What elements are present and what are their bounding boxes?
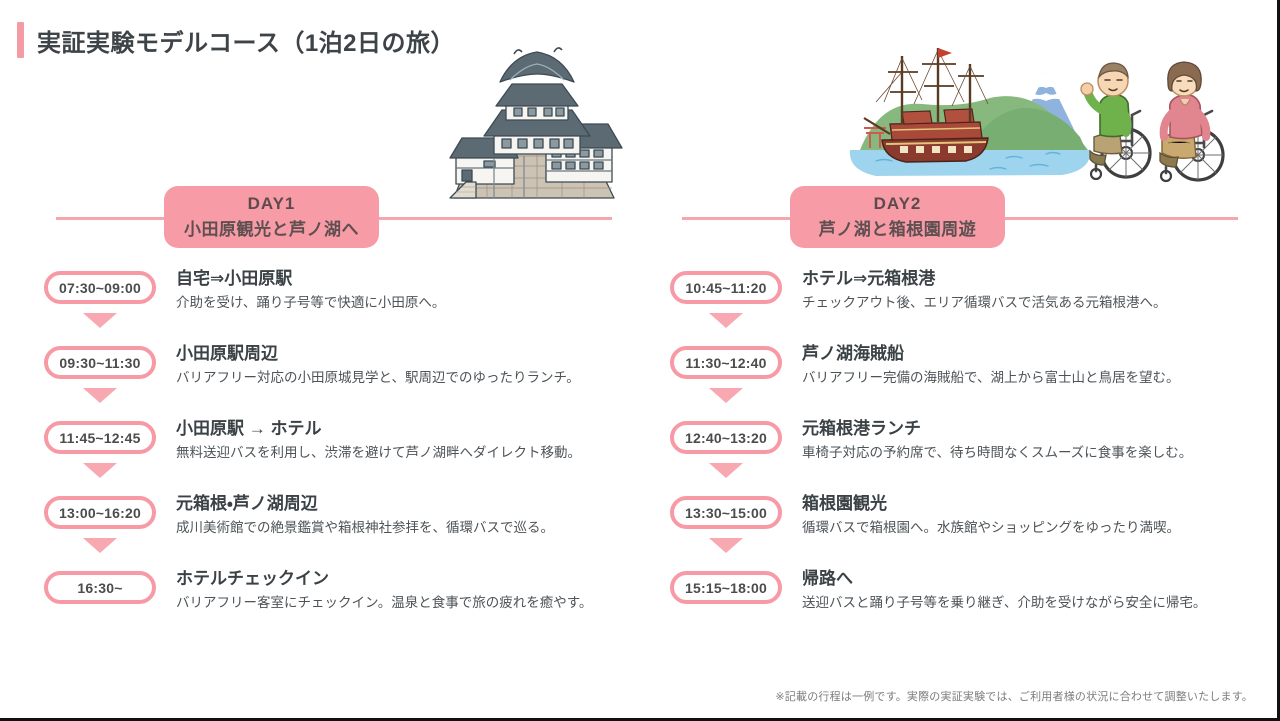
detail-cell: ホテルチェックイン バリアフリー客室にチェックイン。温泉と食事で旅の疲れを癒やす… [164, 568, 636, 613]
detail-cell: 元箱根港ランチ 車椅子対応の予約席で、待ち時間なくスムーズに食事を楽しむ。 [790, 418, 1262, 463]
detail-cell: 芦ノ湖海賊船 バリアフリー完備の海賊船で、湖上から富士山と鳥居を望む。 [790, 343, 1262, 388]
time-badge: 11:30~12:40 [670, 346, 782, 379]
elderly-wheelchair-users-illustration [1080, 55, 1235, 190]
lake-ashi-pirate-ship-mount-fuji-illustration [840, 42, 1110, 192]
item-title: 箱根園観光 [802, 493, 1262, 516]
timeline-item: 10:45~11:20 ホテル⇒元箱根港 チェックアウト後、エリア循環バスで活気… [662, 268, 1262, 343]
item-title: 元箱根港ランチ [802, 418, 1262, 441]
time-cell: 12:40~13:20 [662, 418, 790, 478]
time-cell: 07:30~09:00 [36, 268, 164, 328]
timeline-item: 16:30~ ホテルチェックイン バリアフリー客室にチェックイン。温泉と食事で旅… [36, 568, 636, 643]
time-badge: 11:45~12:45 [44, 421, 156, 454]
timeline-item: 13:00~16:20 元箱根・芦ノ湖周辺 成川美術館での絶景鑑賞や箱根神社参拝… [36, 493, 636, 568]
day1-timeline: 07:30~09:00 自宅⇒小田原駅 介助を受け、踊り子号等で快適に小田原へ。… [36, 268, 636, 643]
arrow-down-icon [709, 313, 743, 328]
time-cell: 09:30~11:30 [36, 343, 164, 403]
item-title: 元箱根・芦ノ湖周辺 [176, 493, 636, 516]
day1-badge: DAY1 小田原観光と芦ノ湖へ [164, 186, 379, 248]
item-description: 送迎バスと踊り子号等を乗り継ぎ、介助を受けながら安全に帰宅。 [802, 593, 1262, 613]
item-description: バリアフリー完備の海賊船で、湖上から富士山と鳥居を望む。 [802, 368, 1262, 388]
day1-header-band: DAY1 小田原観光と芦ノ湖へ [54, 186, 614, 248]
arrow-down-icon [83, 463, 117, 478]
item-title: ホテル⇒元箱根港 [802, 268, 1262, 291]
time-cell: 15:15~18:00 [662, 568, 790, 604]
time-cell: 11:30~12:40 [662, 343, 790, 403]
arrow-down-icon [709, 538, 743, 553]
time-badge: 09:30~11:30 [44, 346, 156, 379]
day2-header-band: DAY2 芦ノ湖と箱根園周遊 [680, 186, 1240, 248]
item-description: 介助を受け、踊り子号等で快適に小田原へ。 [176, 293, 636, 313]
item-description: 無料送迎バスを利用し、渋滞を避けて芦ノ湖畔へダイレクト移動。 [176, 443, 636, 463]
arrow-down-icon [83, 388, 117, 403]
time-badge: 15:15~18:00 [670, 571, 782, 604]
timeline-item: 12:40~13:20 元箱根港ランチ 車椅子対応の予約席で、待ち時間なくスムー… [662, 418, 1262, 493]
arrow-down-icon [83, 313, 117, 328]
item-title: 芦ノ湖海賊船 [802, 343, 1262, 366]
detail-cell: 元箱根・芦ノ湖周辺 成川美術館での絶景鑑賞や箱根神社参拝を、循環バスで巡る。 [164, 493, 636, 538]
detail-cell: 自宅⇒小田原駅 介助を受け、踊り子号等で快適に小田原へ。 [164, 268, 636, 313]
detail-cell: 小田原駅周辺 バリアフリー対応の小田原城見学と、駅周辺でのゆったりランチ。 [164, 343, 636, 388]
item-description: 車椅子対応の予約席で、待ち時間なくスムーズに食事を楽しむ。 [802, 443, 1262, 463]
detail-cell: 小田原駅 → ホテル 無料送迎バスを利用し、渋滞を避けて芦ノ湖畔へダイレクト移動… [164, 418, 636, 463]
day2-timeline: 10:45~11:20 ホテル⇒元箱根港 チェックアウト後、エリア循環バスで活気… [662, 268, 1262, 643]
time-badge: 07:30~09:00 [44, 271, 156, 304]
item-description: バリアフリー対応の小田原城見学と、駅周辺でのゆったりランチ。 [176, 368, 636, 388]
item-title: 自宅⇒小田原駅 [176, 268, 636, 291]
timeline-item: 11:30~12:40 芦ノ湖海賊船 バリアフリー完備の海賊船で、湖上から富士山… [662, 343, 1262, 418]
day2-badge-subtitle: 芦ノ湖と箱根園周遊 [819, 215, 977, 240]
time-cell: 16:30~ [36, 568, 164, 604]
item-title: 小田原駅周辺 [176, 343, 636, 366]
timeline-item: 07:30~09:00 自宅⇒小田原駅 介助を受け、踊り子号等で快適に小田原へ。 [36, 268, 636, 343]
item-title: 小田原駅 → ホテル [176, 418, 636, 441]
time-cell: 11:45~12:45 [36, 418, 164, 478]
time-cell: 13:30~15:00 [662, 493, 790, 553]
arrow-down-icon [83, 538, 117, 553]
footnote-text: ※記載の行程は一例です。実際の実証実験では、ご利用者様の状況に合わせて調整いたし… [775, 688, 1253, 704]
slide-canvas: 実証実験モデルコース（1泊2日の旅） [0, 0, 1280, 721]
item-description: チェックアウト後、エリア循環バスで活気ある元箱根港へ。 [802, 293, 1262, 313]
timeline-item: 09:30~11:30 小田原駅周辺 バリアフリー対応の小田原城見学と、駅周辺で… [36, 343, 636, 418]
item-title: 帰路へ [802, 568, 1262, 591]
detail-cell: ホテル⇒元箱根港 チェックアウト後、エリア循環バスで活気ある元箱根港へ。 [790, 268, 1262, 313]
time-badge: 13:00~16:20 [44, 496, 156, 529]
time-badge: 16:30~ [44, 571, 156, 604]
item-title: ホテルチェックイン [176, 568, 636, 591]
day2-badge-title: DAY2 [874, 194, 922, 214]
item-description: バリアフリー客室にチェックイン。温泉と食事で旅の疲れを癒やす。 [176, 593, 636, 613]
time-cell: 10:45~11:20 [662, 268, 790, 328]
timeline-item: 11:45~12:45 小田原駅 → ホテル 無料送迎バスを利用し、渋滞を避けて… [36, 418, 636, 493]
arrow-down-icon [709, 463, 743, 478]
day2-badge: DAY2 芦ノ湖と箱根園周遊 [790, 186, 1005, 248]
day2-column: DAY2 芦ノ湖と箱根園周遊 10:45~11:20 ホテル⇒元箱根港 チェック… [640, 0, 1260, 721]
time-cell: 13:00~16:20 [36, 493, 164, 553]
item-description: 成川美術館での絶景鑑賞や箱根神社参拝を、循環バスで巡る。 [176, 518, 636, 538]
time-badge: 13:30~15:00 [670, 496, 782, 529]
time-badge: 10:45~11:20 [670, 271, 782, 304]
detail-cell: 箱根園観光 循環バスで箱根園へ。水族館やショッピングをゆったり満喫。 [790, 493, 1262, 538]
detail-cell: 帰路へ 送迎バスと踊り子号等を乗り継ぎ、介助を受けながら安全に帰宅。 [790, 568, 1262, 613]
item-description: 循環バスで箱根園へ。水族館やショッピングをゆったり満喫。 [802, 518, 1262, 538]
day1-badge-title: DAY1 [248, 194, 296, 214]
day1-badge-subtitle: 小田原観光と芦ノ湖へ [184, 215, 359, 240]
day1-column: DAY1 小田原観光と芦ノ湖へ 07:30~09:00 自宅⇒小田原駅 介助を受… [14, 0, 634, 721]
time-badge: 12:40~13:20 [670, 421, 782, 454]
arrow-down-icon [709, 388, 743, 403]
timeline-item: 15:15~18:00 帰路へ 送迎バスと踊り子号等を乗り継ぎ、介助を受けながら… [662, 568, 1262, 643]
timeline-item: 13:30~15:00 箱根園観光 循環バスで箱根園へ。水族館やショッピングをゆ… [662, 493, 1262, 568]
